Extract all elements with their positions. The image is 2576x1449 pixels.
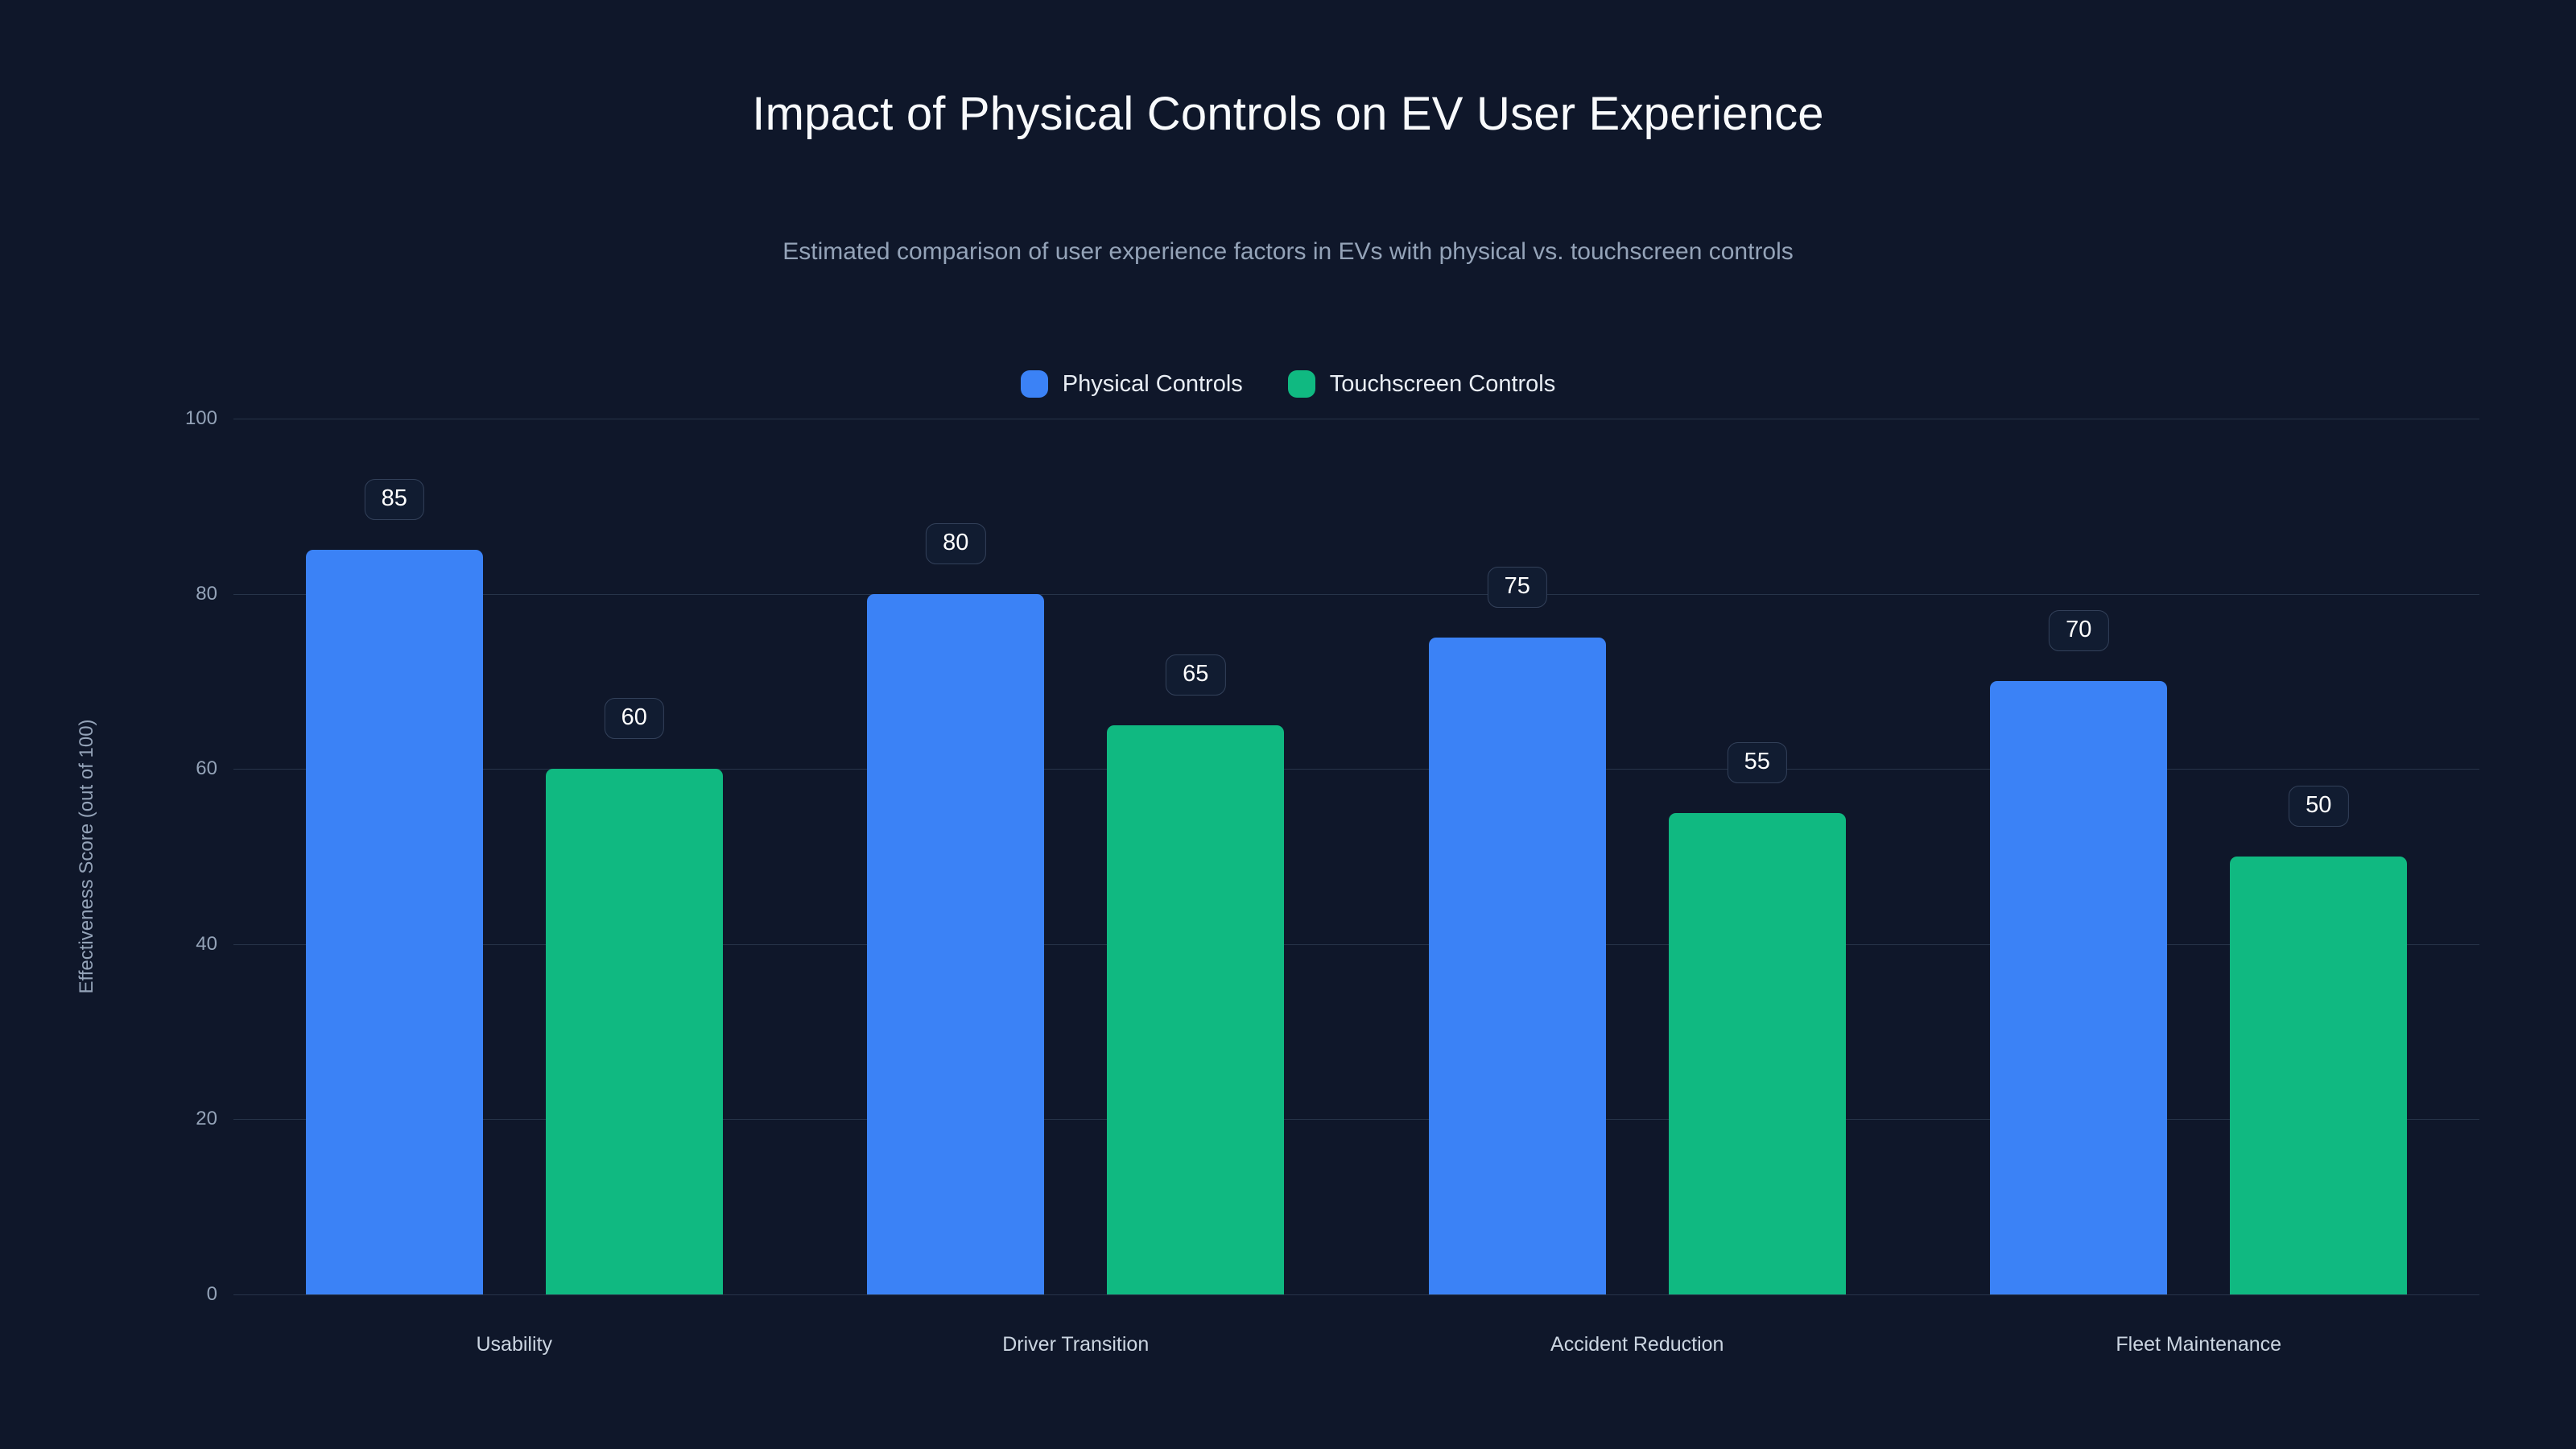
x-axis-category-label: Driver Transition [1002,1333,1149,1356]
x-axis-category-label: Accident Reduction [1550,1333,1724,1356]
gridline [233,594,2479,595]
legend-item-1[interactable]: Touchscreen Controls [1288,370,1555,398]
bar-touchscreen[interactable] [2230,857,2407,1294]
bar-physical[interactable] [1990,681,2167,1294]
data-label-badge: 75 [1488,567,1547,608]
bar-chart-figure: Impact of Physical Controls on EV User E… [0,0,2576,1449]
data-label-badge: 60 [605,698,664,739]
bar-touchscreen[interactable] [546,769,723,1294]
x-axis-category-label: Fleet Maintenance [2116,1333,2281,1356]
legend-swatch-icon [1288,370,1315,398]
legend-item-0[interactable]: Physical Controls [1021,370,1243,398]
data-label-badge: 55 [1728,742,1787,783]
y-axis-title: Effectiveness Score (out of 100) [76,719,98,993]
y-axis-tick-label: 100 [121,407,217,430]
bar-touchscreen[interactable] [1107,725,1284,1294]
gridline [233,1294,2479,1295]
data-label-badge: 85 [365,479,424,520]
y-axis-tick-label: 80 [121,583,217,605]
legend-label: Physical Controls [1063,371,1243,398]
data-label-badge: 65 [1166,654,1225,696]
bar-physical[interactable] [306,550,483,1294]
chart-subtitle: Estimated comparison of user experience … [0,237,2576,266]
y-axis-tick-label: 0 [121,1283,217,1306]
page-title: Impact of Physical Controls on EV User E… [0,89,2576,140]
bar-touchscreen[interactable] [1669,813,1846,1294]
y-axis-tick-label: 20 [121,1108,217,1130]
legend-swatch-icon [1021,370,1048,398]
bar-physical[interactable] [867,594,1044,1294]
data-label-badge: 50 [2289,786,2348,827]
data-label-badge: 70 [2049,610,2108,651]
x-axis-category-label: Usability [477,1333,552,1356]
data-label-badge: 80 [926,523,985,564]
plot-area [233,419,2479,1294]
bar-physical[interactable] [1429,638,1606,1294]
chart-legend: Physical ControlsTouchscreen Controls [0,370,2576,398]
y-axis-tick-label: 40 [121,933,217,956]
legend-label: Touchscreen Controls [1330,371,1555,398]
gridline [233,419,2479,419]
y-axis-tick-label: 60 [121,758,217,780]
